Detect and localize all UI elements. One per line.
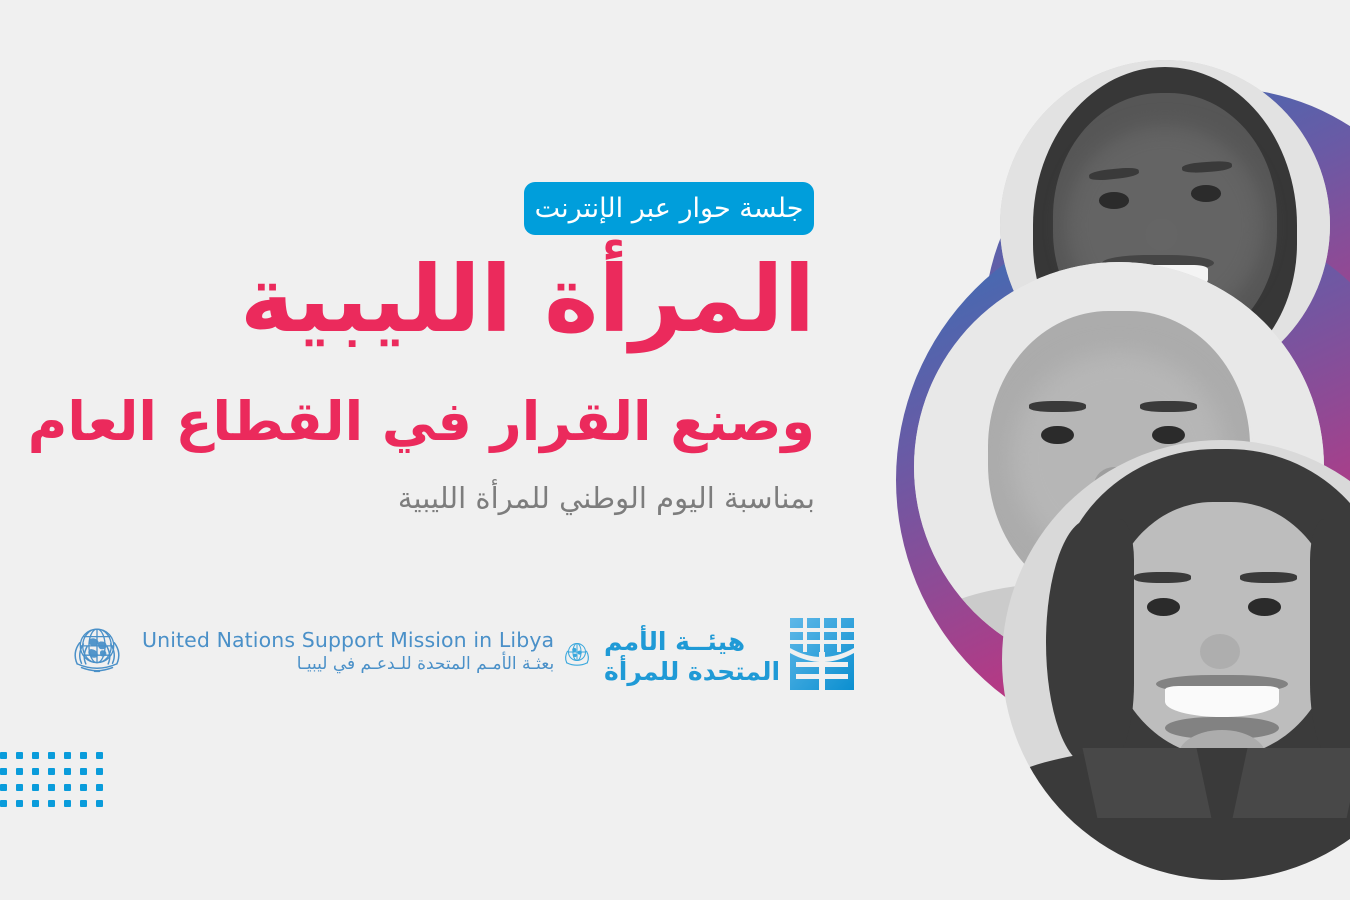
dot-grid-decoration (0, 752, 112, 816)
grid-dot (16, 752, 23, 759)
un-women-grid-icon (790, 618, 854, 694)
unsmil-arabic-label: بعثـة الأمـم المتحدة للـدعـم في ليبيـا (142, 654, 554, 674)
grid-dot (80, 768, 87, 775)
grid-dot (48, 768, 55, 775)
grid-dot (64, 784, 71, 791)
grid-dot (96, 800, 103, 807)
grid-dot (96, 768, 103, 775)
grid-dot (32, 768, 39, 775)
grid-dot (16, 768, 23, 775)
grid-dot (0, 752, 7, 759)
grid-dot (64, 800, 71, 807)
grid-dot (0, 768, 7, 775)
grid-dot (80, 752, 87, 759)
session-type-badge: جلسة حوار عبر الإنترنت (524, 182, 814, 235)
portrait-bottom (1002, 440, 1350, 880)
page-subtitle: وصنع القرار في القطاع العام (55, 392, 815, 451)
grid-dot (48, 800, 55, 807)
un-women-arabic-line2: المتحدة للمرأة (604, 657, 780, 686)
grid-dot (32, 784, 39, 791)
poster-canvas: جلسة حوار عبر الإنترنت المرأة الليبية وص… (0, 0, 1350, 900)
grid-dot (32, 800, 39, 807)
grid-dot (0, 784, 7, 791)
grid-dot (64, 752, 71, 759)
un-emblem-icon (560, 637, 594, 675)
unsmil-english-label: United Nations Support Mission in Libya (142, 628, 554, 652)
grid-dot (64, 768, 71, 775)
grid-dot (96, 752, 103, 759)
grid-dot (48, 784, 55, 791)
un-women-arabic-line1: هيئــة الأمم (604, 627, 745, 656)
grid-dot (48, 752, 55, 759)
grid-dot (80, 784, 87, 791)
artwork-composition (880, 0, 1350, 900)
grid-dot (0, 800, 7, 807)
page-occasion-note: بمناسبة اليوم الوطني للمرأة الليبية (55, 480, 815, 516)
grid-dot (16, 784, 23, 791)
logo-un-women: هيئــة الأمم المتحدة للمرأة (560, 618, 854, 694)
logo-unsmil: United Nations Support Mission in Libya … (66, 618, 554, 684)
grid-dot (32, 752, 39, 759)
grid-dot (16, 800, 23, 807)
grid-dot (96, 784, 103, 791)
page-title: المرأة الليبية (195, 252, 815, 349)
un-emblem-icon (66, 618, 128, 684)
grid-dot (80, 800, 87, 807)
